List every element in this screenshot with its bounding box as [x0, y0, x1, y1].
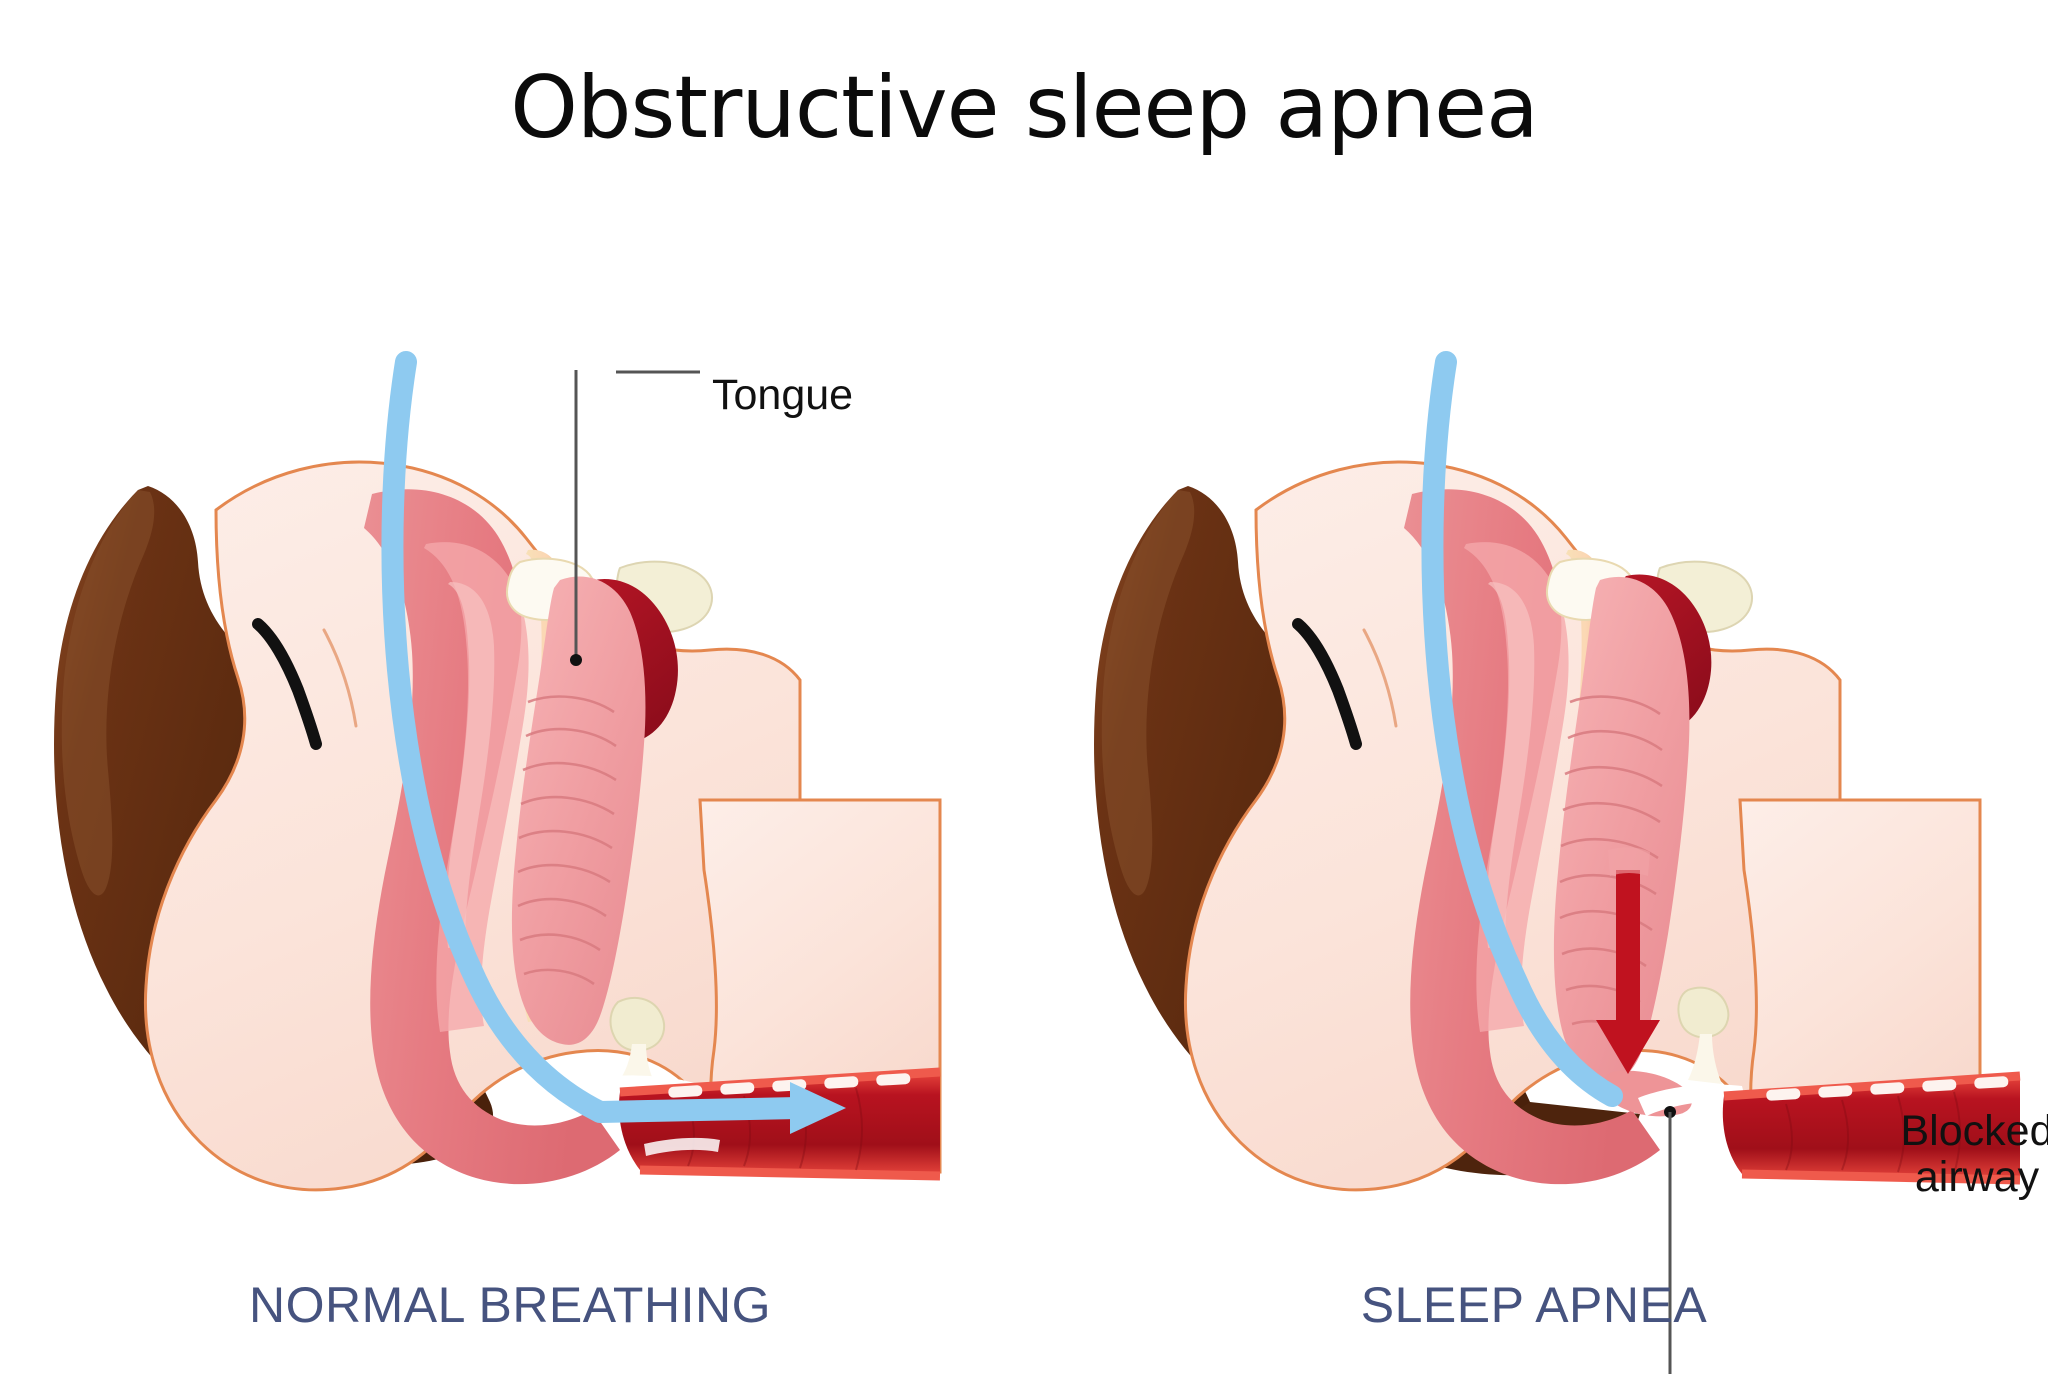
sleep-apnea-illustration — [1060, 330, 2020, 1230]
diagram-canvas: Obstructive sleep apnea — [0, 0, 2048, 1374]
panel-sleep-apnea — [1060, 330, 2020, 1230]
label-tongue: Tongue — [712, 372, 853, 418]
page-title: Obstructive sleep apnea — [0, 58, 2048, 158]
normal-breathing-illustration — [20, 330, 980, 1230]
tongue-collapse-arrow-glow — [1608, 847, 1650, 876]
label-blocked-airway-line2: airway — [1862, 1154, 2048, 1200]
label-blocked-airway: Blocked airway — [1862, 1108, 2048, 1200]
epiglottis — [1678, 988, 1728, 1038]
epiglottis — [611, 998, 665, 1051]
trachea-outline-bottom — [640, 1170, 940, 1176]
caption-normal-breathing: NORMAL BREATHING — [0, 1276, 1020, 1334]
tongue-leader-dot — [570, 654, 582, 666]
panel-normal-breathing — [20, 330, 980, 1230]
label-blocked-airway-line1: Blocked — [1862, 1108, 2048, 1154]
caption-sleep-apnea: SLEEP APNEA — [1020, 1276, 2048, 1334]
